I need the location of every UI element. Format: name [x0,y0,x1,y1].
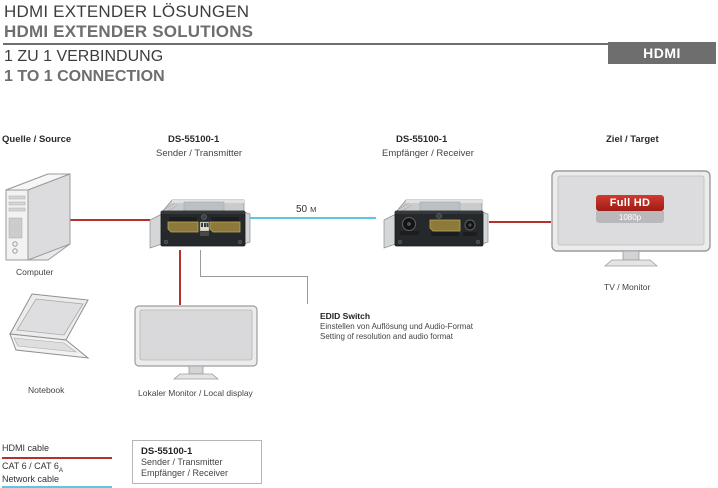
resolution-badge: 1080p [596,211,664,223]
legend-device-role-2: Empfänger / Receiver [141,468,261,479]
page-title-de: HDMI EXTENDER LÖSUNGEN [4,2,249,22]
notebook-caption: Notebook [28,385,64,395]
link-distance: 50M [296,204,316,215]
tv-monitor: Full HD 1080p [551,170,711,268]
transmitter-role: Sender / Transmitter [156,148,242,159]
legend-device-box: DS-55100-1 Sender / Transmitter Empfänge… [132,440,262,484]
page-title-en: HDMI EXTENDER SOLUTIONS [4,22,253,42]
legend-hdmi-swatch [2,457,112,459]
diagram-page: HDMI EXTENDER LÖSUNGEN HDMI EXTENDER SOL… [0,0,718,488]
computer-caption: Computer [16,267,53,277]
legend-device-role-1: Sender / Transmitter [141,457,261,468]
legend-network-label-subscript: A [59,467,63,474]
edid-callout-title: EDID Switch [320,311,370,321]
legend-network-label-text: CAT 6 / CAT 6 [2,461,59,471]
receiver-device [382,198,490,252]
cable-receiver-to-tv [489,221,551,223]
cable-source-to-transmitter [68,219,150,221]
full-hd-badge-label: Full HD [610,197,651,209]
resolution-badge-label: 1080p [619,213,641,222]
page-subtitle-de: 1 ZU 1 VERBINDUNG [4,48,163,66]
page-subtitle-en: 1 TO 1 CONNECTION [4,68,165,86]
legend-network-label-line1: CAT 6 / CAT 6A [2,461,63,474]
local-monitor-caption: Lokaler Monitor / Local display [138,388,253,398]
edid-leader-vertical-top [200,250,201,276]
computer-tower [2,172,74,264]
hdmi-badge: HDMI [608,42,716,64]
cable-transmitter-to-receiver [250,217,376,219]
edid-leader-horizontal [200,276,308,277]
edid-callout-en: Setting of resolution and audio format [320,332,453,341]
column-heading-source: Quelle / Source [2,134,71,145]
transmitter-device [148,198,252,252]
tv-caption: TV / Monitor [604,282,650,292]
link-distance-value: 50 [296,204,307,215]
link-distance-unit: M [310,205,316,214]
cable-transmitter-to-local-display [179,250,181,305]
receiver-model: DS-55100-1 [396,134,447,145]
transmitter-model: DS-55100-1 [168,134,219,145]
local-monitor [134,305,258,381]
column-heading-target: Ziel / Target [606,134,659,145]
legend-network-label-line2: Network cable [2,474,59,484]
edid-leader-vertical-bottom [307,276,308,304]
receiver-role: Empfänger / Receiver [382,148,474,159]
legend-network-swatch [2,486,112,488]
edid-callout-de: Einstellen von Auflösung und Audio-Forma… [320,322,473,331]
full-hd-badge: Full HD [596,195,664,211]
legend-hdmi-label: HDMI cable [2,443,49,453]
notebook [4,288,96,368]
legend-device-model: DS-55100-1 [141,446,261,457]
